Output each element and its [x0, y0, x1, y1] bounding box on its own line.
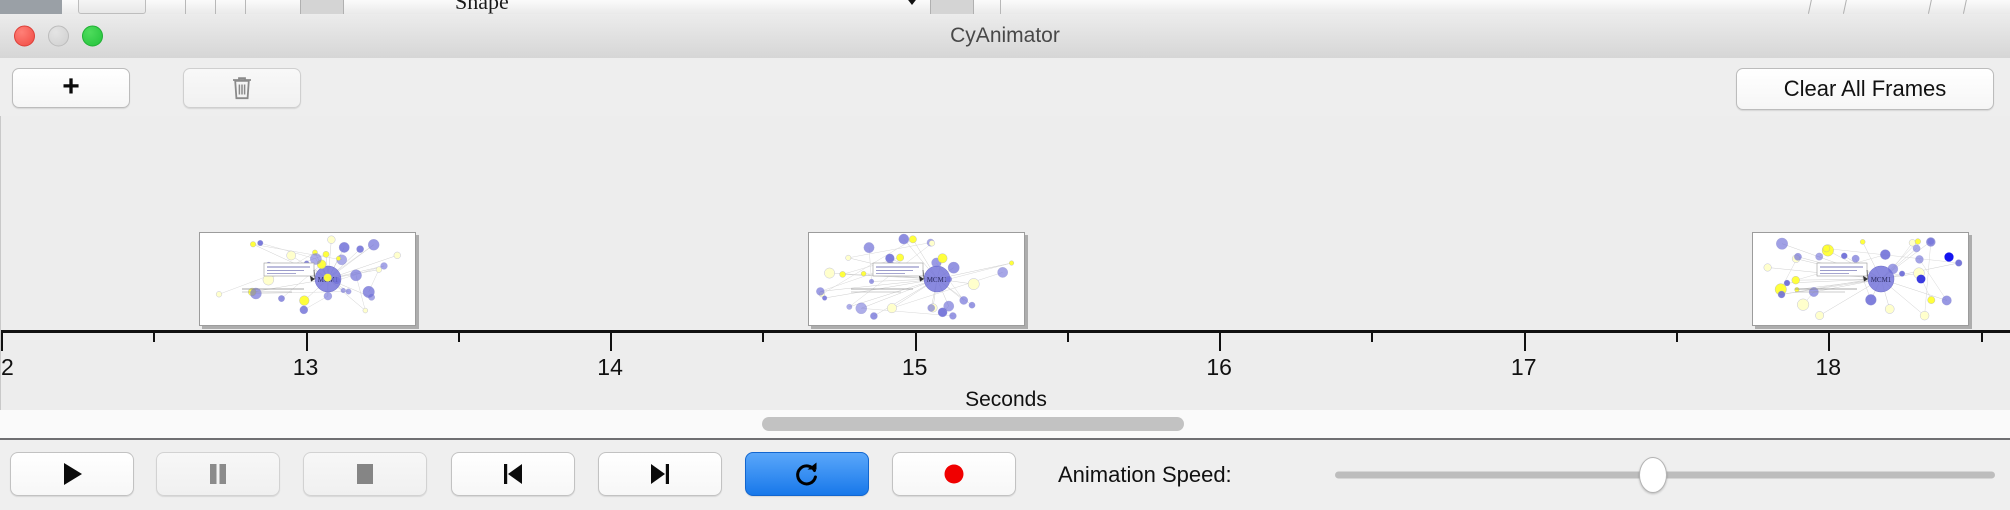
axis-tick-major — [1, 333, 3, 351]
axis-tick-major — [915, 333, 917, 351]
delete-frame-button[interactable] — [183, 68, 301, 108]
axis-tick-major — [610, 333, 612, 351]
title-bar: CyAnimator — [0, 14, 2010, 59]
background-tab — [78, 0, 146, 14]
axis-tick-label: 17 — [1511, 354, 1537, 381]
axis-tick-minor — [1371, 333, 1373, 342]
slider-thumb[interactable] — [1639, 457, 1667, 493]
background-divider — [185, 0, 186, 14]
svg-text:MCM1: MCM1 — [1870, 276, 1891, 284]
clear-all-frames-label: Clear All Frames — [1784, 76, 1947, 102]
timeline-scrollbar[interactable] — [0, 410, 2010, 440]
axis-tick-label: 16 — [1206, 354, 1232, 381]
axis-tick-major — [306, 333, 308, 351]
loop-icon — [793, 460, 821, 488]
background-chip — [930, 0, 974, 15]
background-selected-tab — [0, 0, 62, 14]
axis-tick-label: 12 — [0, 354, 14, 381]
play-button[interactable] — [10, 452, 134, 496]
skip-forward-button[interactable] — [598, 452, 722, 496]
axis-tick-minor — [153, 333, 155, 342]
timeline-frame-thumbnail[interactable]: MCM1 — [1752, 232, 1969, 326]
axis-title: Seconds — [1, 388, 2010, 410]
axis-tick-major — [1524, 333, 1526, 351]
axis-tick-label: 18 — [1815, 354, 1841, 381]
stop-icon — [353, 460, 377, 488]
background-window-label: Shape — [455, 0, 509, 15]
loop-button[interactable] — [745, 452, 869, 496]
axis-tick-major — [1219, 333, 1221, 351]
axis-tick-label: 15 — [902, 354, 928, 381]
axis-tick-major — [1828, 333, 1830, 351]
axis-tick-minor — [762, 333, 764, 342]
background-divider — [1928, 0, 1933, 14]
axis-tick-minor — [1067, 333, 1069, 342]
pause-icon — [206, 460, 230, 488]
background-divider — [1808, 0, 1813, 14]
record-button[interactable] — [892, 452, 1016, 496]
background-divider — [1000, 0, 1001, 14]
animation-speed-label: Animation Speed: — [1058, 440, 1232, 510]
add-frame-button[interactable]: + — [12, 68, 130, 108]
toolbar: + Clear All Frames — [0, 58, 2010, 118]
axis-tick-label: 13 — [293, 354, 319, 381]
skip-back-icon — [500, 460, 526, 488]
window-title: CyAnimator — [0, 14, 2010, 58]
background-divider — [215, 0, 216, 14]
clear-all-frames-button[interactable]: Clear All Frames — [1736, 68, 1994, 110]
animation-speed-slider[interactable] — [1335, 440, 1995, 510]
timeline-frame-thumbnail[interactable]: MCM1 — [808, 232, 1025, 326]
play-icon — [59, 460, 85, 488]
timeline-axis — [1, 330, 2010, 333]
scrollbar-thumb[interactable] — [762, 417, 1184, 431]
background-divider — [1843, 0, 1848, 14]
axis-tick-minor — [1981, 333, 1983, 342]
plus-icon: + — [62, 72, 80, 102]
timeline-panel[interactable]: Seconds 12131415161718 MCM1 MCM1 — [0, 116, 2010, 410]
trash-icon — [231, 75, 253, 101]
pause-button[interactable] — [156, 452, 280, 496]
playback-toolbar: Animation Speed: — [0, 440, 2010, 510]
axis-tick-minor — [458, 333, 460, 342]
axis-tick-label: 14 — [597, 354, 623, 381]
stop-button[interactable] — [303, 452, 427, 496]
background-chip — [300, 0, 344, 15]
timeline-frame-thumbnail[interactable]: MCM1 — [199, 232, 416, 326]
record-icon — [941, 461, 967, 487]
skip-forward-icon — [647, 460, 673, 488]
background-divider — [1963, 0, 1968, 14]
cyanimator-window: Shape CyAnimator + Clear All Frames — [0, 0, 2010, 510]
svg-text:MCM1: MCM1 — [926, 276, 947, 284]
skip-back-button[interactable] — [451, 452, 575, 496]
axis-tick-minor — [1676, 333, 1678, 342]
background-divider — [245, 0, 246, 14]
background-window-strip: Shape — [0, 0, 2010, 15]
background-cursor-icon — [905, 0, 919, 5]
